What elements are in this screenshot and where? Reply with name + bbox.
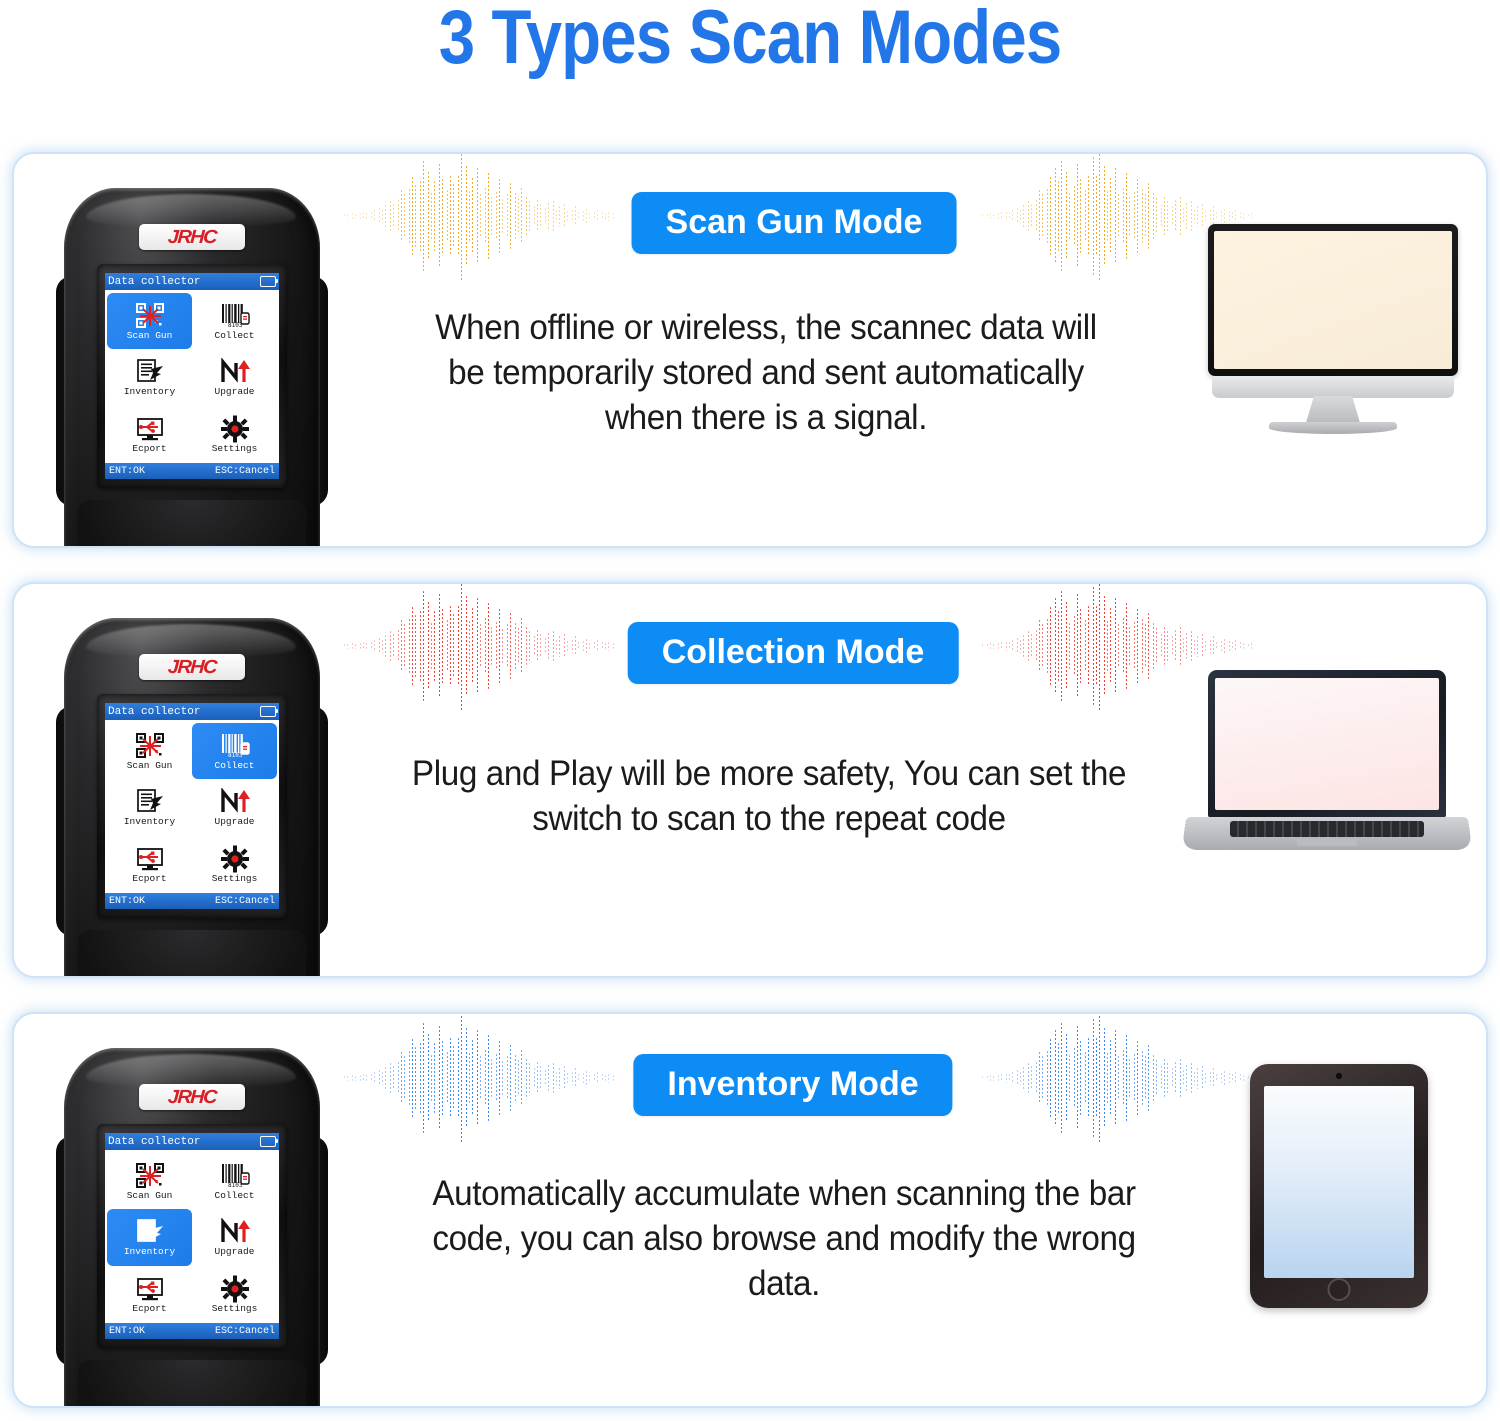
screen-footer-ent: ENT:OK (109, 896, 145, 907)
screen-menu-label: Upgrade (215, 387, 255, 397)
usb-export-icon (133, 845, 167, 873)
screen-menu-label: Settings (212, 444, 258, 454)
qr-scan-icon (133, 302, 167, 330)
screen-menu-label: Settings (212, 874, 258, 884)
upgrade-arrow-icon (218, 788, 252, 816)
mode-panel-scan-gun: JRHC Data collector (12, 152, 1488, 548)
screen-menu-item-scan-gun[interactable]: Scan Gun (107, 723, 192, 779)
device-gloss-highlight (86, 194, 296, 228)
device-grip-texture (78, 500, 306, 546)
screen-menu-label: Upgrade (215, 817, 255, 827)
laptop-screen (1208, 670, 1446, 818)
screen-footer-esc: ESC:Cancel (215, 466, 275, 477)
handheld-scanner-device: JRHC Data collector (58, 188, 326, 546)
screen-header-title: Data collector (108, 706, 200, 718)
qr-scan-icon (133, 1162, 167, 1190)
tablet-camera-icon (1336, 1073, 1342, 1079)
screen-header: Data collector (105, 703, 279, 720)
screen-menu-item-ecport[interactable]: Ecport (107, 1266, 192, 1322)
device-screen-bezel: Data collector (97, 694, 287, 918)
screen-footer: ENT:OK ESC:Cancel (105, 463, 279, 479)
battery-icon (260, 1136, 276, 1147)
mode-badge-inventory[interactable]: Inventory Mode (633, 1054, 952, 1116)
mode-panel-collection: JRHC Data collector (12, 582, 1488, 978)
handheld-scanner-device: JRHC Data collector (58, 618, 326, 976)
screen-menu-label: Ecport (132, 1304, 166, 1314)
laptop-illustration (1184, 670, 1470, 856)
page-title: 3 Types Scan Modes (105, 0, 1395, 81)
mode-description-scan-gun: When offline or wireless, the scannec da… (415, 306, 1118, 440)
screen-menu-item-settings[interactable]: Settings (192, 1266, 277, 1322)
screen-menu-item-inventory[interactable]: Inventory (107, 779, 192, 835)
battery-icon (260, 706, 276, 717)
device-gloss-highlight (86, 624, 296, 658)
laptop-keyboard (1230, 821, 1424, 837)
screen-menu-label: Collect (215, 1191, 255, 1201)
screen-footer-esc: ESC:Cancel (215, 1326, 275, 1337)
panel-content: JRHC Data collector (14, 584, 1486, 976)
desktop-monitor-illustration (1208, 224, 1458, 434)
screen-footer-ent: ENT:OK (109, 466, 145, 477)
screen-menu-item-settings[interactable]: Settings (192, 406, 277, 462)
screen-header-title: Data collector (108, 276, 200, 288)
screen-menu-grid: Scan Gun 8103 Collect (105, 720, 279, 893)
monitor-screen (1208, 224, 1458, 376)
inventory-list-icon (133, 788, 167, 816)
mode-panel-inventory: JRHC Data collector (12, 1012, 1488, 1408)
handheld-scanner-device: JRHC Data collector (58, 1048, 326, 1406)
barcode-collect-icon: 8103 (218, 1162, 252, 1190)
qr-scan-icon (133, 732, 167, 760)
brand-logo-text: JRHC (167, 658, 216, 677)
screen-menu-label: Scan Gun (127, 1191, 173, 1201)
monitor-stand-base (1269, 422, 1397, 434)
screen-menu-label: Inventory (124, 387, 175, 397)
screen-menu-label: Ecport (132, 874, 166, 884)
waveform-left (344, 584, 614, 716)
screen-menu-label: Scan Gun (127, 331, 173, 341)
mode-description-inventory: Automatically accumulate when scanning t… (395, 1172, 1174, 1306)
device-screen-bezel: Data collector (97, 1124, 287, 1348)
device-body: JRHC Data collector (64, 618, 320, 976)
upgrade-arrow-icon (218, 1218, 252, 1246)
mode-badge-scan-gun[interactable]: Scan Gun Mode (632, 192, 957, 254)
tablet-screen (1264, 1086, 1414, 1278)
screen-menu-label: Settings (212, 1304, 258, 1314)
screen-header: Data collector (105, 1133, 279, 1150)
device-grip-texture (78, 1360, 306, 1406)
device-screen: Data collector (105, 273, 279, 479)
panel-content: JRHC Data collector (14, 1014, 1486, 1406)
waveform-right (982, 1014, 1252, 1148)
screen-footer: ENT:OK ESC:Cancel (105, 1323, 279, 1339)
usb-export-icon (133, 415, 167, 443)
screen-menu-item-scan-gun[interactable]: Scan Gun (107, 1153, 192, 1209)
screen-menu-grid: Scan Gun 8103 Collect (105, 290, 279, 463)
screen-menu-label: Inventory (124, 1247, 175, 1257)
barcode-collect-icon: 8103 (218, 732, 252, 760)
device-body: JRHC Data collector (64, 188, 320, 546)
screen-menu-item-collect[interactable]: 8103 Collect (192, 1153, 277, 1209)
monitor-chin (1212, 376, 1454, 398)
screen-menu-grid: Scan Gun 8103 Collect (105, 1150, 279, 1323)
device-body: JRHC Data collector (64, 1048, 320, 1406)
screen-menu-item-upgrade[interactable]: Upgrade (192, 349, 277, 405)
device-grip-texture (78, 930, 306, 976)
tablet-body (1250, 1064, 1428, 1308)
waveform-left (344, 1014, 614, 1148)
gear-icon (218, 845, 252, 873)
screen-menu-item-collect[interactable]: 8103 Collect (192, 723, 277, 779)
screen-footer-ent: ENT:OK (109, 1326, 145, 1337)
screen-menu-label: Collect (215, 331, 255, 341)
tablet-illustration (1250, 1064, 1428, 1308)
gear-icon (218, 1275, 252, 1303)
upgrade-arrow-icon (218, 358, 252, 386)
laptop-trackpad (1297, 839, 1357, 846)
screen-menu-item-collect[interactable]: 8103 Collect (192, 293, 277, 349)
screen-menu-item-ecport[interactable]: Ecport (107, 836, 192, 892)
brand-logo-plate: JRHC (139, 654, 245, 680)
brand-logo-text: JRHC (167, 1088, 216, 1107)
screen-footer: ENT:OK ESC:Cancel (105, 893, 279, 909)
screen-header: Data collector (105, 273, 279, 290)
device-screen-bezel: Data collector (97, 264, 287, 488)
usb-export-icon (133, 1275, 167, 1303)
panel-content: JRHC Data collector (14, 154, 1486, 546)
screen-menu-item-scan-gun[interactable]: Scan Gun (107, 293, 192, 349)
screen-menu-item-inventory[interactable]: Inventory (107, 1209, 192, 1265)
screen-menu-item-inventory[interactable]: Inventory (107, 349, 192, 405)
screen-menu-label: Scan Gun (127, 761, 173, 771)
screen-menu-label: Collect (215, 761, 255, 771)
device-gloss-highlight (86, 1054, 296, 1088)
screen-menu-label: Inventory (124, 817, 175, 827)
screen-menu-item-upgrade[interactable]: Upgrade (192, 779, 277, 835)
mode-badge-collection[interactable]: Collection Mode (628, 622, 959, 684)
screen-menu-label: Upgrade (215, 1247, 255, 1257)
inventory-list-icon (133, 358, 167, 386)
waveform-left (344, 154, 614, 286)
brand-logo-text: JRHC (167, 228, 216, 247)
battery-icon (260, 276, 276, 287)
tablet-home-button[interactable] (1328, 1278, 1351, 1301)
screen-menu-item-settings[interactable]: Settings (192, 836, 277, 892)
brand-logo-plate: JRHC (139, 224, 245, 250)
device-screen: Data collector (105, 703, 279, 909)
brand-logo-plate: JRHC (139, 1084, 245, 1110)
screen-menu-item-ecport[interactable]: Ecport (107, 406, 192, 462)
screen-header-title: Data collector (108, 1136, 200, 1148)
gear-icon (218, 415, 252, 443)
inventory-list-icon (133, 1218, 167, 1246)
mode-description-collection: Plug and Play will be more safety, You c… (394, 752, 1145, 842)
screen-footer-esc: ESC:Cancel (215, 896, 275, 907)
barcode-collect-icon: 8103 (218, 302, 252, 330)
screen-menu-item-upgrade[interactable]: Upgrade (192, 1209, 277, 1265)
device-screen: Data collector (105, 1133, 279, 1339)
screen-menu-label: Ecport (132, 444, 166, 454)
